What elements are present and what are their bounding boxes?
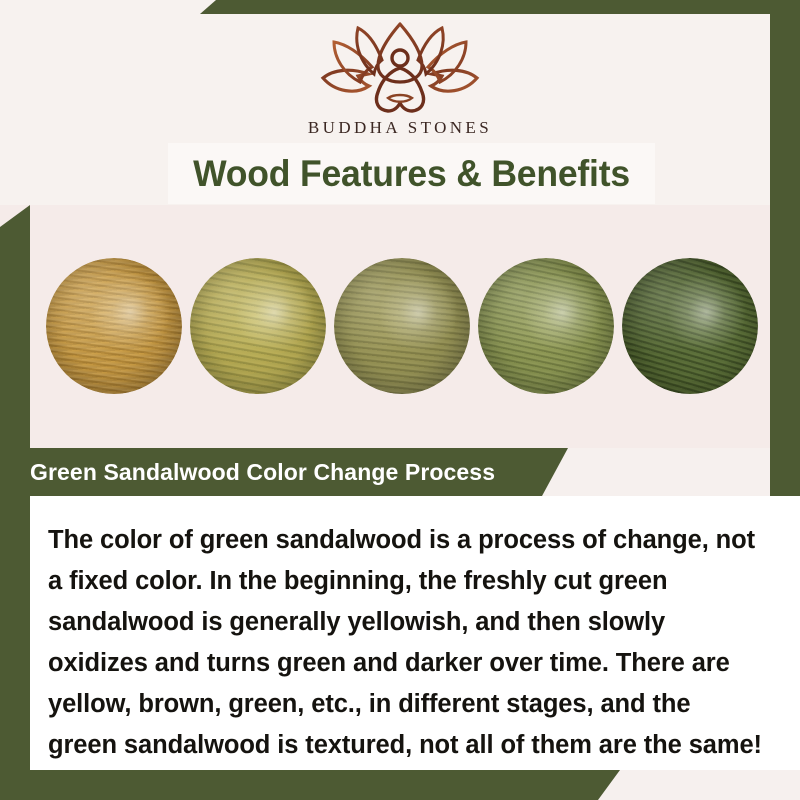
bead-stage-3 (334, 258, 470, 394)
title-banner: Wood Features & Benefits (168, 143, 655, 204)
frame-border-left (0, 205, 30, 800)
frame-border-top (200, 0, 800, 14)
bead-highlight (46, 258, 182, 394)
bead-stage-2 (190, 258, 326, 394)
bead-stage-5 (622, 258, 758, 394)
section-label-banner: Green Sandalwood Color Change Process (0, 448, 568, 496)
bead-gradient-row (46, 253, 758, 398)
body-paragraph: The color of green sandalwood is a proce… (48, 520, 764, 766)
frame-border-bottom (0, 770, 620, 800)
page-title: Wood Features & Benefits (193, 153, 630, 195)
brand-logo: BUDDHA STONES (0, 22, 800, 138)
brand-name: BUDDHA STONES (0, 118, 800, 138)
bead-stage-4 (478, 258, 614, 394)
bead-highlight (334, 258, 470, 394)
bead-highlight (478, 258, 614, 394)
body-text-card: The color of green sandalwood is a proce… (30, 496, 800, 770)
lotus-meditation-icon (316, 22, 484, 114)
poster-root: BUDDHA STONES Wood Features & Benefits G… (0, 0, 800, 800)
bead-highlight (190, 258, 326, 394)
bead-stage-1 (46, 258, 182, 394)
section-label: Green Sandalwood Color Change Process (30, 459, 495, 486)
bead-highlight (622, 258, 758, 394)
